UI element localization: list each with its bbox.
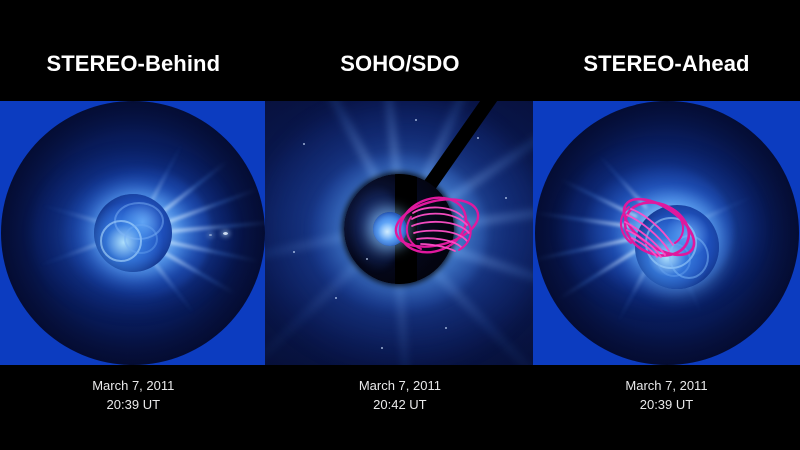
fluxrope-model-overlay-soho: [265, 101, 533, 365]
image-panel-stereo-ahead: [533, 101, 800, 365]
caption-date: March 7, 2011: [267, 376, 534, 395]
panel-title-stereo-ahead: STEREO-Ahead: [533, 27, 800, 75]
coronagraph-disc-ahead: [535, 101, 799, 365]
field-star-speck: [209, 234, 212, 236]
caption-time: 20:42 UT: [267, 395, 534, 414]
caption-time: 20:39 UT: [533, 395, 800, 414]
euvi-solar-disc-behind: [94, 194, 172, 272]
solar-triptych-figure: STEREO-Behind SOHO/SDO STEREO-Ahead: [0, 0, 800, 450]
panel-title-soho-sdo: SOHO/SDO: [267, 27, 534, 75]
caption-date: March 7, 2011: [533, 376, 800, 395]
panel-title-stereo-behind: STEREO-Behind: [0, 27, 267, 75]
lasco-coronagraph-field: [265, 101, 533, 365]
field-star-speck: [223, 232, 228, 235]
caption-soho-sdo: March 7, 2011 20:42 UT: [267, 365, 534, 450]
panel-titles-row: STEREO-Behind SOHO/SDO STEREO-Ahead: [0, 0, 800, 101]
fluxrope-model-overlay-stereo-ahead: [535, 101, 799, 365]
caption-time: 20:39 UT: [0, 395, 267, 414]
caption-stereo-behind: March 7, 2011 20:39 UT: [0, 365, 267, 450]
caption-stereo-ahead: March 7, 2011 20:39 UT: [533, 365, 800, 450]
coronagraph-disc-behind: [1, 101, 265, 365]
image-panel-stereo-behind: [0, 101, 265, 365]
caption-date: March 7, 2011: [0, 376, 267, 395]
image-panel-soho-sdo: [265, 101, 533, 365]
panel-images-row: [0, 101, 800, 365]
panel-captions-row: March 7, 2011 20:39 UT March 7, 2011 20:…: [0, 365, 800, 450]
